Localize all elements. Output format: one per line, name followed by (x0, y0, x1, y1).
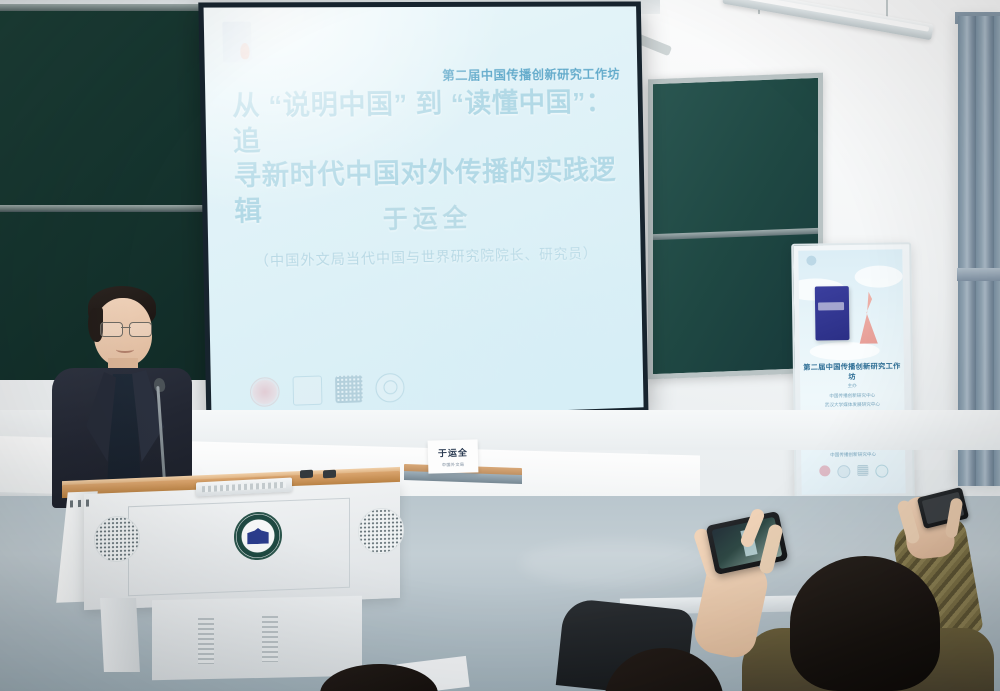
banner-section-2-line-2: 中国传播创新研究中心 (801, 450, 905, 460)
banner-figure-graphic (857, 292, 884, 344)
podium-control-dot-1 (70, 500, 73, 507)
institute-seal-logo-icon (250, 377, 280, 407)
presenter (46, 286, 196, 506)
eyeglasses-icon (100, 322, 152, 335)
lecture-hall-photo: 第二届中国传播创新研究工作坊 从 “说明中国” 到 “读懂中国”：追 寻新时代中… (0, 0, 1000, 691)
projection-screen-frame: 第二届中国传播创新研究工作坊 从 “说明中国” 到 “读懂中国”：追 寻新时代中… (198, 1, 648, 428)
nameplate-name: 于运全 (438, 445, 468, 459)
media-partner-logo-icon (293, 375, 323, 405)
banner-cloud-3 (810, 342, 880, 361)
presenter-mouth (116, 346, 134, 353)
podium-control-knobs (300, 470, 336, 478)
podium-knob-2[interactable] (323, 470, 336, 479)
eyeglasses-lens-right (129, 322, 152, 337)
banner-title: 第二届中国传播创新研究工作坊 (800, 361, 904, 382)
podium-control-dot-3 (86, 500, 89, 507)
slide-logo-row (250, 373, 405, 407)
slide-speaker-name: 于运全 (207, 195, 640, 240)
banner-logo-seal-icon (875, 465, 888, 478)
projected-slide: 第二届中国传播创新研究工作坊 从 “说明中国” 到 “读懂中国”：追 寻新时代中… (204, 6, 644, 422)
speaker-nameplate: 于运全 中国外文局 (428, 439, 479, 473)
banner-artwork: 第二届中国传播创新研究工作坊 主办 中国传播创新研究中心 武汉大学媒体发展研究中… (798, 249, 905, 494)
banner-section-1-heading: 主办 (800, 381, 904, 391)
rollup-banner: 第二届中国传播创新研究工作坊 主办 中国传播创新研究中心 武汉大学媒体发展研究中… (791, 242, 915, 506)
audience-member-right-head (790, 556, 940, 691)
podium-side-controls[interactable] (70, 500, 89, 508)
slide-corner-graphic (222, 22, 251, 63)
banner-top-logo-icon (806, 256, 816, 266)
podium-vent-right (262, 616, 278, 662)
emblem-gate-glyph (244, 528, 272, 545)
banner-book-graphic (815, 286, 850, 340)
slide-title-line-1: 从 “说明中国” 到 “读懂中国”：追 (232, 85, 622, 159)
slide-event-header: 第二届中国传播创新研究工作坊 (442, 64, 620, 84)
banner-qr-code-icon (857, 465, 868, 476)
curtain-tieback (957, 268, 1000, 281)
podium-knob-1[interactable] (300, 470, 313, 479)
banner-logo-red-icon (819, 465, 830, 476)
slide-speaker-affiliation: （中国外文局当代中国与世界研究院院长、研究员） (208, 242, 641, 272)
podium-lower-cabinet (152, 596, 362, 680)
blackboard-left-top-rail (0, 4, 226, 11)
podium-support-pillar (100, 598, 140, 672)
nameplate-subtitle: 中国外文局 (442, 461, 465, 468)
qr-code-icon (335, 375, 363, 403)
floor-reflection (520, 540, 710, 586)
banner-cloud-2 (854, 265, 902, 288)
podium-vent-left (198, 618, 214, 664)
banner-logo-row (801, 464, 905, 478)
lectern-podium (62, 478, 400, 691)
eyeglasses-lens-left (100, 322, 123, 337)
university-seal-logo-icon (375, 373, 405, 403)
banner-logo-blue-icon (837, 465, 850, 478)
podium-control-dot-2 (78, 500, 81, 507)
